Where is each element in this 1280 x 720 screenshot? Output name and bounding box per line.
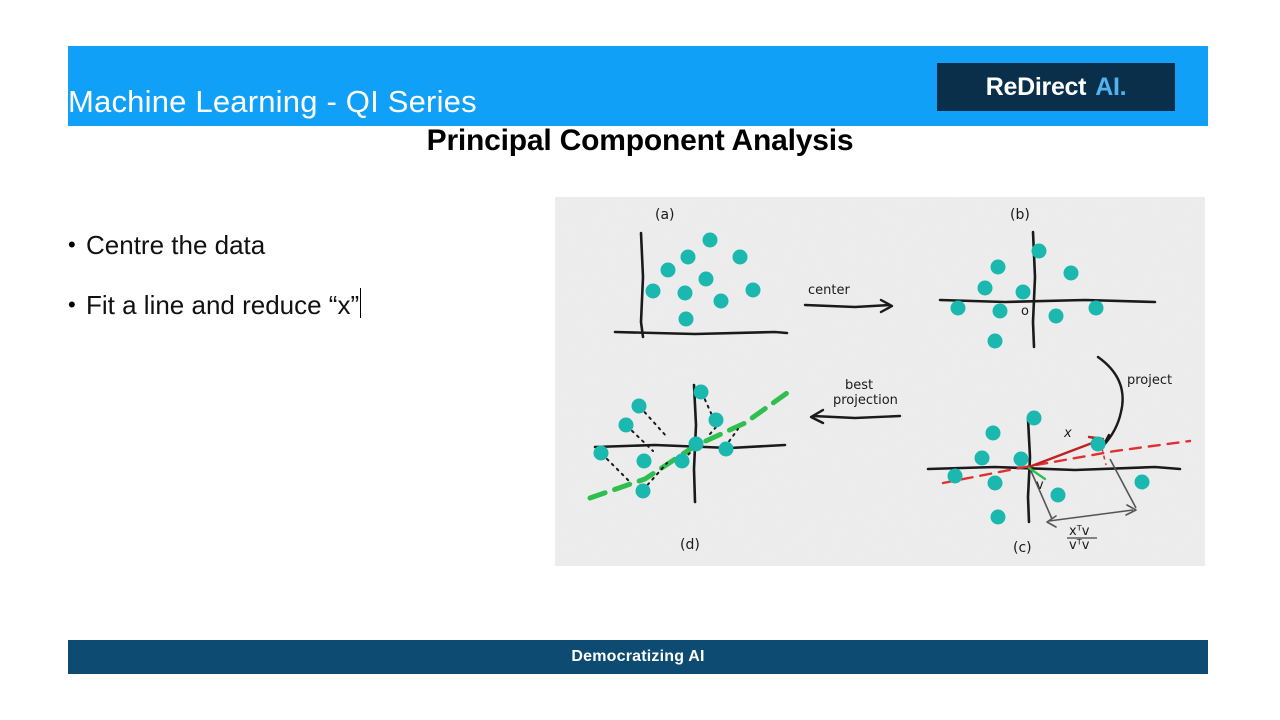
footer-text: Democratizing AI: [571, 648, 704, 666]
center-arrow-label: center: [808, 283, 850, 298]
slide-canvas: Machine Learning - QI Series ReDirect AI…: [0, 0, 1280, 720]
header-title: Machine Learning - QI Series: [68, 84, 768, 120]
footer-bar: Democratizing AI: [68, 640, 1208, 674]
page-title: Principal Component Analysis: [0, 124, 1280, 158]
text-cursor: [360, 288, 361, 318]
logo-word-ai: AI.: [1095, 73, 1126, 102]
brand-logo: ReDirect AI.: [937, 63, 1175, 111]
pca-diagram-image: (a) ce: [555, 197, 1205, 566]
logo-word-redirect: ReDirect: [986, 73, 1086, 102]
list-item: • Fit a line and reduce “x”: [68, 288, 518, 322]
projection-formula-numerator: xᵀv: [1069, 524, 1090, 539]
origin-marker: o: [1021, 304, 1029, 319]
bullet-marker-icon: •: [68, 288, 86, 322]
project-arrow-label: project: [1127, 373, 1172, 388]
bullet-list: • Centre the data • Fit a line and reduc…: [68, 228, 518, 348]
projection-formula-denominator: vᵀv: [1069, 538, 1090, 553]
panel-c-label: (c): [1013, 540, 1032, 556]
panel-d-label: (d): [680, 537, 700, 553]
vector-x-label: x: [1063, 426, 1072, 441]
best-projection-line1: best: [845, 378, 873, 393]
best-projection-line2: projection: [833, 393, 898, 408]
bullet-text: Fit a line and reduce “x”: [86, 288, 359, 322]
panel-a-label: (a): [655, 207, 675, 223]
list-item: • Centre the data: [68, 228, 518, 262]
panel-b-x-axis: [940, 300, 1155, 302]
panel-b-label: (b): [1010, 207, 1030, 223]
bullet-marker-icon: •: [68, 228, 86, 262]
bullet-text: Centre the data: [86, 228, 265, 262]
